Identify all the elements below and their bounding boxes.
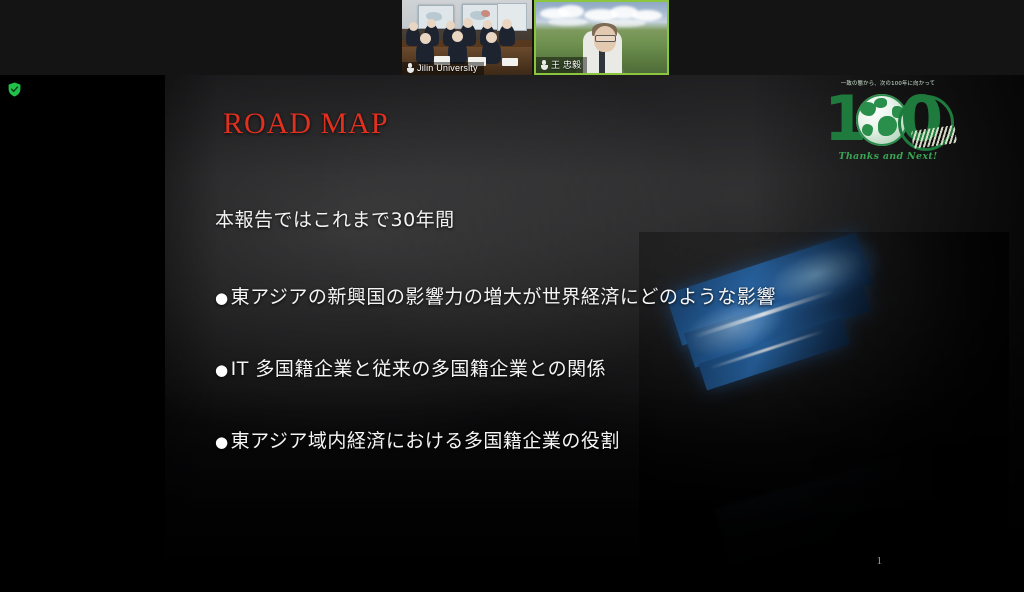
slide-page-number: 1 bbox=[877, 555, 883, 567]
slide-body: 本報告ではこれまで30年間 ● 東アジアの新興国の影響力の増大が世界経済にどのよ… bbox=[215, 205, 1005, 453]
slide-left-panel bbox=[43, 75, 165, 592]
participant-name: Jilin University bbox=[417, 63, 478, 73]
bullet-dot-icon: ● bbox=[215, 291, 229, 306]
list-item: ● IT 多国籍企業と従来の多国籍企業との関係 bbox=[215, 354, 1005, 381]
anniversary-100-logo: 一致の懇から、次の100年に向かって 1 0 Thanks and Next! bbox=[818, 82, 958, 174]
mic-icon bbox=[540, 60, 548, 70]
participant-name: 王 忠毅 bbox=[551, 58, 581, 71]
bullet-dot-icon: ● bbox=[215, 435, 229, 450]
list-item: ● 東アジアの新興国の影響力の増大が世界経済にどのような影響 bbox=[215, 282, 1005, 309]
shield-check-icon[interactable] bbox=[8, 82, 21, 97]
slide-lead-text: 本報告ではこれまで30年間 bbox=[215, 205, 1005, 232]
mic-icon bbox=[406, 63, 414, 73]
page-title: ROAD MAP bbox=[223, 107, 389, 141]
glasses-icon bbox=[595, 35, 616, 42]
tile-label-jilin-university: Jilin University bbox=[402, 62, 484, 75]
list-item-label: 東アジアの新興国の影響力の増大が世界経済にどのような影響 bbox=[231, 282, 776, 309]
shared-slide: 一致の懇から、次の100年に向かって 1 0 Thanks and Next! … bbox=[43, 75, 1024, 592]
video-tile-jilin-university[interactable]: Jilin University bbox=[402, 0, 532, 75]
list-item: ● 東アジア域内経済における多国籍企業の役割 bbox=[215, 426, 1005, 453]
screen-share-view: Jilin University 王 忠毅 bbox=[0, 0, 1024, 592]
list-item-label: IT 多国籍企業と従来の多国籍企業との関係 bbox=[231, 354, 607, 381]
video-tile-wang-zhongyi[interactable]: 王 忠毅 bbox=[534, 0, 669, 75]
video-tile-strip: Jilin University 王 忠毅 bbox=[0, 0, 1024, 75]
tile-label-wang-zhongyi: 王 忠毅 bbox=[536, 57, 587, 73]
list-item-label: 東アジア域内経済における多国籍企業の役割 bbox=[231, 426, 620, 453]
bullet-dot-icon: ● bbox=[215, 363, 229, 378]
